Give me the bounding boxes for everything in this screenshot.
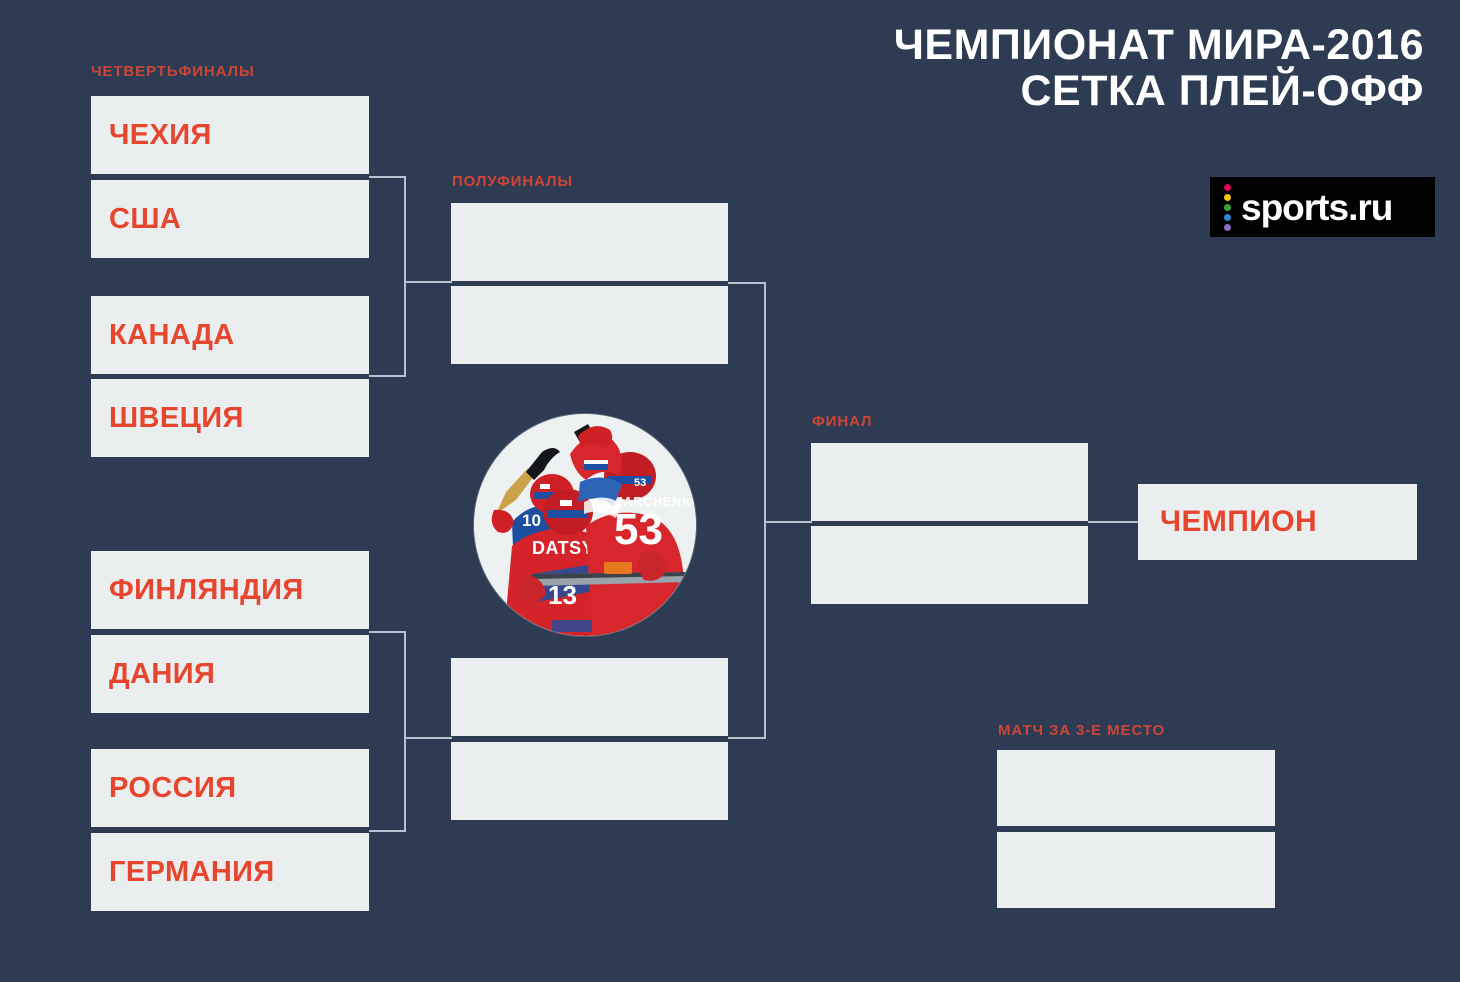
connector-qf3-h xyxy=(369,631,406,633)
qf-slot-7[interactable]: РОССИЯ xyxy=(91,749,369,827)
qf-slot-6[interactable]: ДАНИЯ xyxy=(91,635,369,713)
connector-sf-v xyxy=(764,282,766,738)
qf-slot-3[interactable]: КАНАДА xyxy=(91,296,369,374)
connector-qf3-v xyxy=(404,631,406,831)
label-quarterfinals: ЧЕТВЕРТЬФИНАЛЫ xyxy=(91,63,255,80)
sports-ru-logo[interactable]: sports.ru xyxy=(1210,177,1435,237)
qf-team-2: США xyxy=(109,203,181,236)
connector-qf4-h xyxy=(369,830,406,832)
page-title: ЧЕМПИОНАТ МИРА-2016 СЕТКА ПЛЕЙ-ОФФ xyxy=(894,22,1424,114)
svg-text:53: 53 xyxy=(614,505,663,554)
qf-slot-4[interactable]: ШВЕЦИЯ xyxy=(91,379,369,457)
champion-slot[interactable]: ЧЕМПИОН xyxy=(1138,484,1417,560)
final-slot-1[interactable] xyxy=(811,443,1088,521)
qf-slot-5[interactable]: ФИНЛЯНДИЯ xyxy=(91,551,369,629)
qf-team-6: ДАНИЯ xyxy=(109,658,215,691)
connector-champion xyxy=(1088,521,1138,523)
sf-slot-3[interactable] xyxy=(451,658,728,736)
qf-slot-8[interactable]: ГЕРМАНИЯ xyxy=(91,833,369,911)
connector-qf2-h xyxy=(369,375,406,377)
connector-final-feed xyxy=(764,521,812,523)
qf-team-4: ШВЕЦИЯ xyxy=(109,402,244,435)
qf-team-5: ФИНЛЯНДИЯ xyxy=(109,574,304,607)
svg-text:10: 10 xyxy=(522,511,541,530)
qf-slot-2[interactable]: США xyxy=(91,180,369,258)
bracket-infographic: ЧЕМПИОНАТ МИРА-2016 СЕТКА ПЛЕЙ-ОФФ sport… xyxy=(0,0,1460,982)
sf-slot-4[interactable] xyxy=(451,742,728,820)
qf-team-3: КАНАДА xyxy=(109,319,235,352)
label-final: ФИНАЛ xyxy=(812,413,872,430)
logo-dots-icon xyxy=(1224,184,1231,231)
sf-slot-1[interactable] xyxy=(451,203,728,281)
qf-slot-1[interactable]: ЧЕХИЯ xyxy=(91,96,369,174)
sf-slot-2[interactable] xyxy=(451,286,728,364)
qf-team-1: ЧЕХИЯ xyxy=(109,119,212,152)
qf-team-8: ГЕРМАНИЯ xyxy=(109,856,275,889)
title-line-2: СЕТКА ПЛЕЙ-ОФФ xyxy=(894,68,1424,114)
title-line-1: ЧЕМПИОНАТ МИРА-2016 xyxy=(894,22,1424,68)
champion-label: ЧЕМПИОН xyxy=(1160,505,1317,539)
qf-team-7: РОССИЯ xyxy=(109,772,237,805)
logo-text: sports.ru xyxy=(1241,189,1392,226)
svg-text:53: 53 xyxy=(634,477,646,489)
connector-sf-lower-feed xyxy=(404,737,452,739)
label-semifinals: ПОЛУФИНАЛЫ xyxy=(452,173,573,190)
label-third-place: МАТЧ ЗА 3-Е МЕСТО xyxy=(998,722,1165,739)
third-place-slot-1[interactable] xyxy=(997,750,1275,826)
connector-sf1-h xyxy=(728,282,766,284)
connector-sf-upper-feed xyxy=(404,281,452,283)
connector-qf1-h xyxy=(369,176,406,178)
connector-sf2-h xyxy=(728,737,766,739)
team-celebration-photo: 10 DATSYUK 13 53 MARCHENKO 53 xyxy=(474,414,696,636)
connector-qf1-v xyxy=(404,176,406,376)
hockey-celebration-illustration: 10 DATSYUK 13 53 MARCHENKO 53 xyxy=(474,414,696,636)
final-slot-2[interactable] xyxy=(811,526,1088,604)
third-place-slot-2[interactable] xyxy=(997,832,1275,908)
